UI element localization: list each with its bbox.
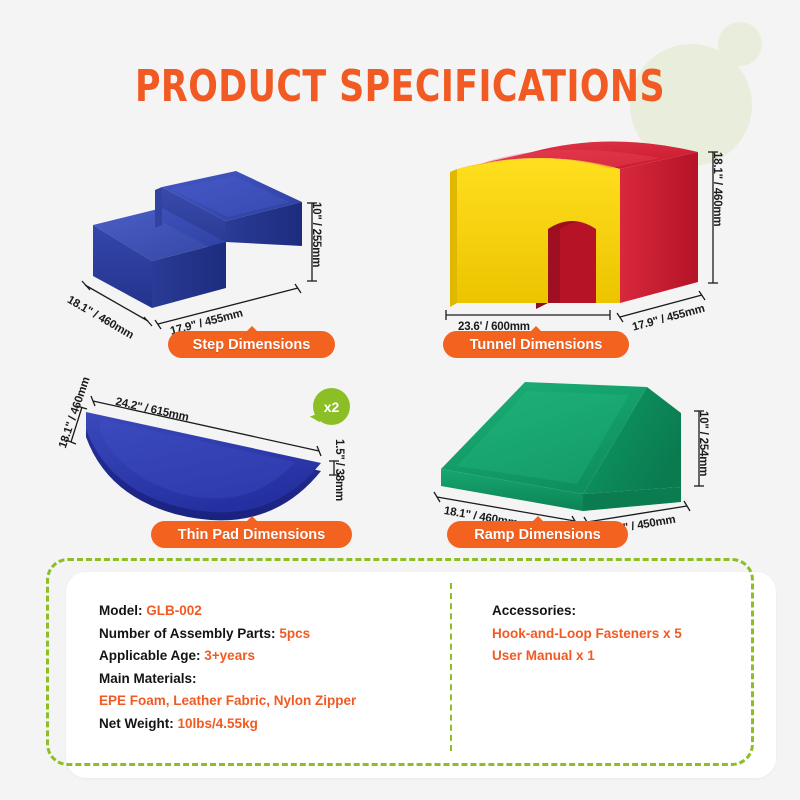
spec-value-accessory-1: Hook-and-Loop Fasteners x 5 (492, 623, 752, 646)
spec-column-left: Model: GLB-002 Number of Assembly Parts:… (99, 600, 429, 735)
product-cell-tunnel: 23.6' / 600mm 17.9" / 455mm 18.1" / 460m… (410, 125, 770, 365)
label-ramp-dimensions[interactable]: Ramp Dimensions (447, 521, 628, 548)
spec-value-weight: 10lbs/4.55kg (178, 716, 258, 731)
spec-label-materials: Main Materials: (99, 671, 197, 686)
pad-dim-height: 1.5" / 38mm (333, 439, 345, 501)
label-step-dimensions[interactable]: Step Dimensions (168, 331, 335, 358)
step-dim-height: 10" / 255mm (310, 202, 322, 267)
spec-column-divider (450, 583, 452, 751)
spec-value-accessory-2: User Manual x 1 (492, 645, 752, 668)
tunnel-dim-height: 18.1" / 460mm (711, 152, 723, 226)
spec-row-materials-label: Main Materials: (99, 668, 429, 691)
spec-row-age: Applicable Age: 3+years (99, 645, 429, 668)
spec-label-weight: Net Weight: (99, 716, 174, 731)
spec-label-parts: Number of Assembly Parts: (99, 626, 276, 641)
spec-label-age: Applicable Age: (99, 648, 201, 663)
label-tunnel-dimensions[interactable]: Tunnel Dimensions (443, 331, 629, 358)
spec-row-parts: Number of Assembly Parts: 5pcs (99, 623, 429, 646)
decorative-circle-small (718, 22, 762, 66)
spec-value-age: 3+years (204, 648, 255, 663)
label-thin-pad-dimensions[interactable]: Thin Pad Dimensions (151, 521, 352, 548)
spec-row-weight: Net Weight: 10lbs/4.55kg (99, 713, 429, 736)
page-title: PRODUCT SPECIFICATIONS (48, 63, 752, 111)
spec-value-parts: 5pcs (279, 626, 310, 641)
spec-label-model: Model: (99, 603, 143, 618)
spec-value-model: GLB-002 (146, 603, 202, 618)
spec-label-accessories: Accessories: (492, 600, 752, 623)
spec-value-materials: EPE Foam, Leather Fabric, Nylon Zipper (99, 690, 429, 713)
ramp-dim-height: 10" / 254mm (697, 411, 709, 476)
quantity-badge-x2: x2 (313, 388, 350, 425)
spec-column-right: Accessories: Hook-and-Loop Fasteners x 5… (492, 600, 752, 668)
spec-row-model: Model: GLB-002 (99, 600, 429, 623)
